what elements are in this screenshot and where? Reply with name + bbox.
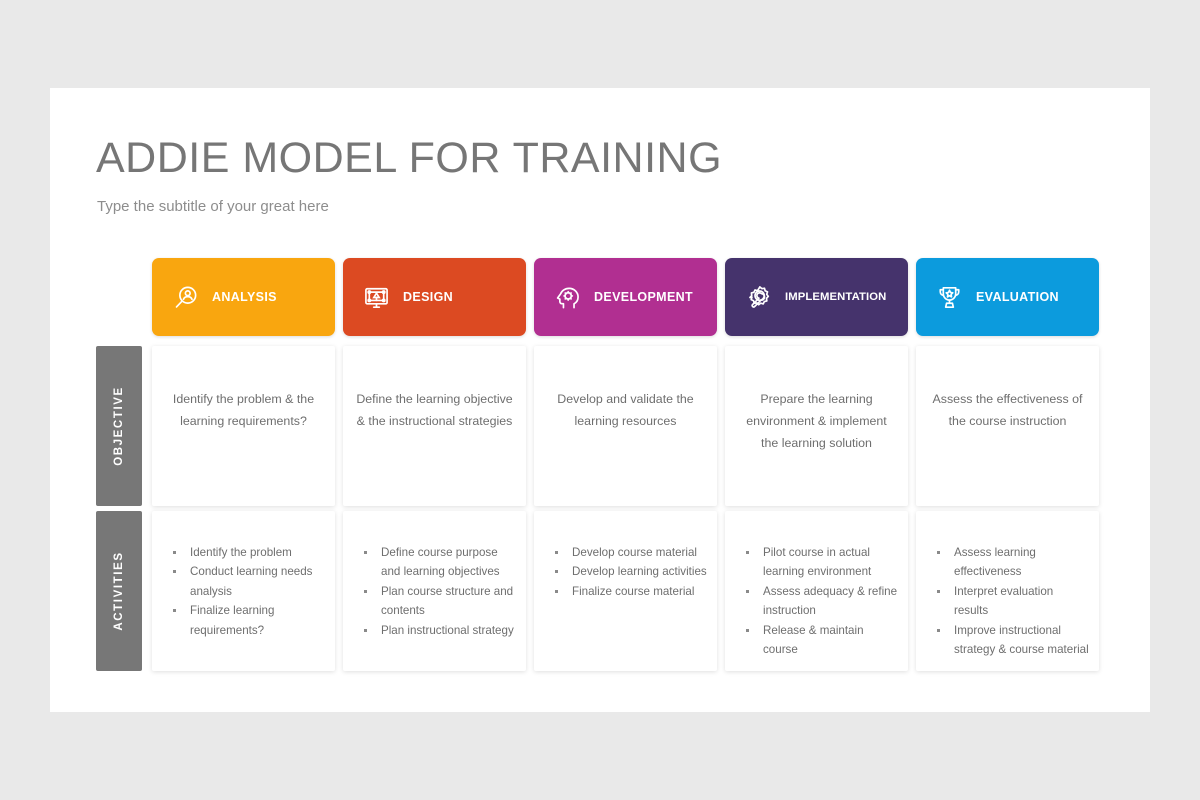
phase-tab-label: DEVELOPMENT [594, 290, 693, 304]
list-item: Develop course material [550, 543, 707, 562]
list-item: Interpret evaluation results [932, 582, 1089, 621]
phase-tab-implementation[interactable]: IMPLEMENTATION [725, 258, 908, 336]
list-item: Assess adequacy & refine instruction [741, 582, 898, 621]
objective-text: Assess the effectiveness of the course i… [916, 346, 1099, 432]
gear-wrench-icon [745, 284, 772, 311]
phase-tab-label: IMPLEMENTATION [785, 291, 886, 303]
activities-list: Identify the problemConduct learning nee… [152, 511, 335, 640]
activities-card-implementation: Pilot course in actual learning environm… [725, 511, 908, 671]
list-item: Release & maintain course [741, 621, 898, 660]
list-item: Improve instructional strategy & course … [932, 621, 1089, 660]
magnifier-person-icon [172, 284, 199, 311]
page-title: ADDIE MODEL FOR TRAINING [96, 134, 722, 183]
phase-tab-label: DESIGN [403, 290, 453, 304]
row-label-activities: ACTIVITIES [96, 511, 142, 671]
phase-tab-development[interactable]: DEVELOPMENT [534, 258, 717, 336]
list-item: Identify the problem [168, 543, 325, 562]
row-label-objective-text: OBJECTIVE [113, 386, 125, 466]
objective-card-implementation: Prepare the learning environment & imple… [725, 346, 908, 506]
row-label-activities-text: ACTIVITIES [113, 551, 125, 630]
activities-list: Pilot course in actual learning environm… [725, 511, 908, 659]
phase-tab-evaluation[interactable]: EVALUATION [916, 258, 1099, 336]
activities-card-evaluation: Assess learning effectivenessInterpret e… [916, 511, 1099, 671]
objective-text: Identify the problem & the learning requ… [152, 346, 335, 432]
objective-text: Define the learning objective & the inst… [343, 346, 526, 432]
activities-list: Develop course materialDevelop learning … [534, 511, 717, 601]
head-gear-icon [554, 284, 581, 311]
monitor-pen-tool-icon [363, 284, 390, 311]
list-item: Finalize learning requirements? [168, 601, 325, 640]
page-subtitle: Type the subtitle of your great here [97, 198, 329, 215]
list-item: Pilot course in actual learning environm… [741, 543, 898, 582]
activities-card-design: Define course purpose and learning objec… [343, 511, 526, 671]
phase-tab-analysis[interactable]: ANALYSIS [152, 258, 335, 336]
list-item: Develop learning activities [550, 562, 707, 581]
row-label-objective: OBJECTIVE [96, 346, 142, 506]
list-item: Conduct learning needs analysis [168, 562, 325, 601]
slide-canvas: ADDIE MODEL FOR TRAINING Type the subtit… [50, 88, 1150, 712]
objective-card-analysis: Identify the problem & the learning requ… [152, 346, 335, 506]
list-item: Define course purpose and learning objec… [359, 543, 516, 582]
objective-text: Prepare the learning environment & imple… [725, 346, 908, 454]
trophy-star-icon [936, 284, 963, 311]
activities-list: Define course purpose and learning objec… [343, 511, 526, 640]
list-item: Finalize course material [550, 582, 707, 601]
list-item: Plan course structure and contents [359, 582, 516, 621]
activities-card-analysis: Identify the problemConduct learning nee… [152, 511, 335, 671]
phase-tab-label: ANALYSIS [212, 290, 277, 304]
activities-card-development: Develop course materialDevelop learning … [534, 511, 717, 671]
objective-card-design: Define the learning objective & the inst… [343, 346, 526, 506]
list-item: Assess learning effectiveness [932, 543, 1089, 582]
objective-card-evaluation: Assess the effectiveness of the course i… [916, 346, 1099, 506]
list-item: Plan instructional strategy [359, 621, 516, 640]
activities-list: Assess learning effectivenessInterpret e… [916, 511, 1099, 659]
phase-tab-label: EVALUATION [976, 290, 1059, 304]
phase-tab-design[interactable]: DESIGN [343, 258, 526, 336]
objective-text: Develop and validate the learning resour… [534, 346, 717, 432]
objective-card-development: Develop and validate the learning resour… [534, 346, 717, 506]
